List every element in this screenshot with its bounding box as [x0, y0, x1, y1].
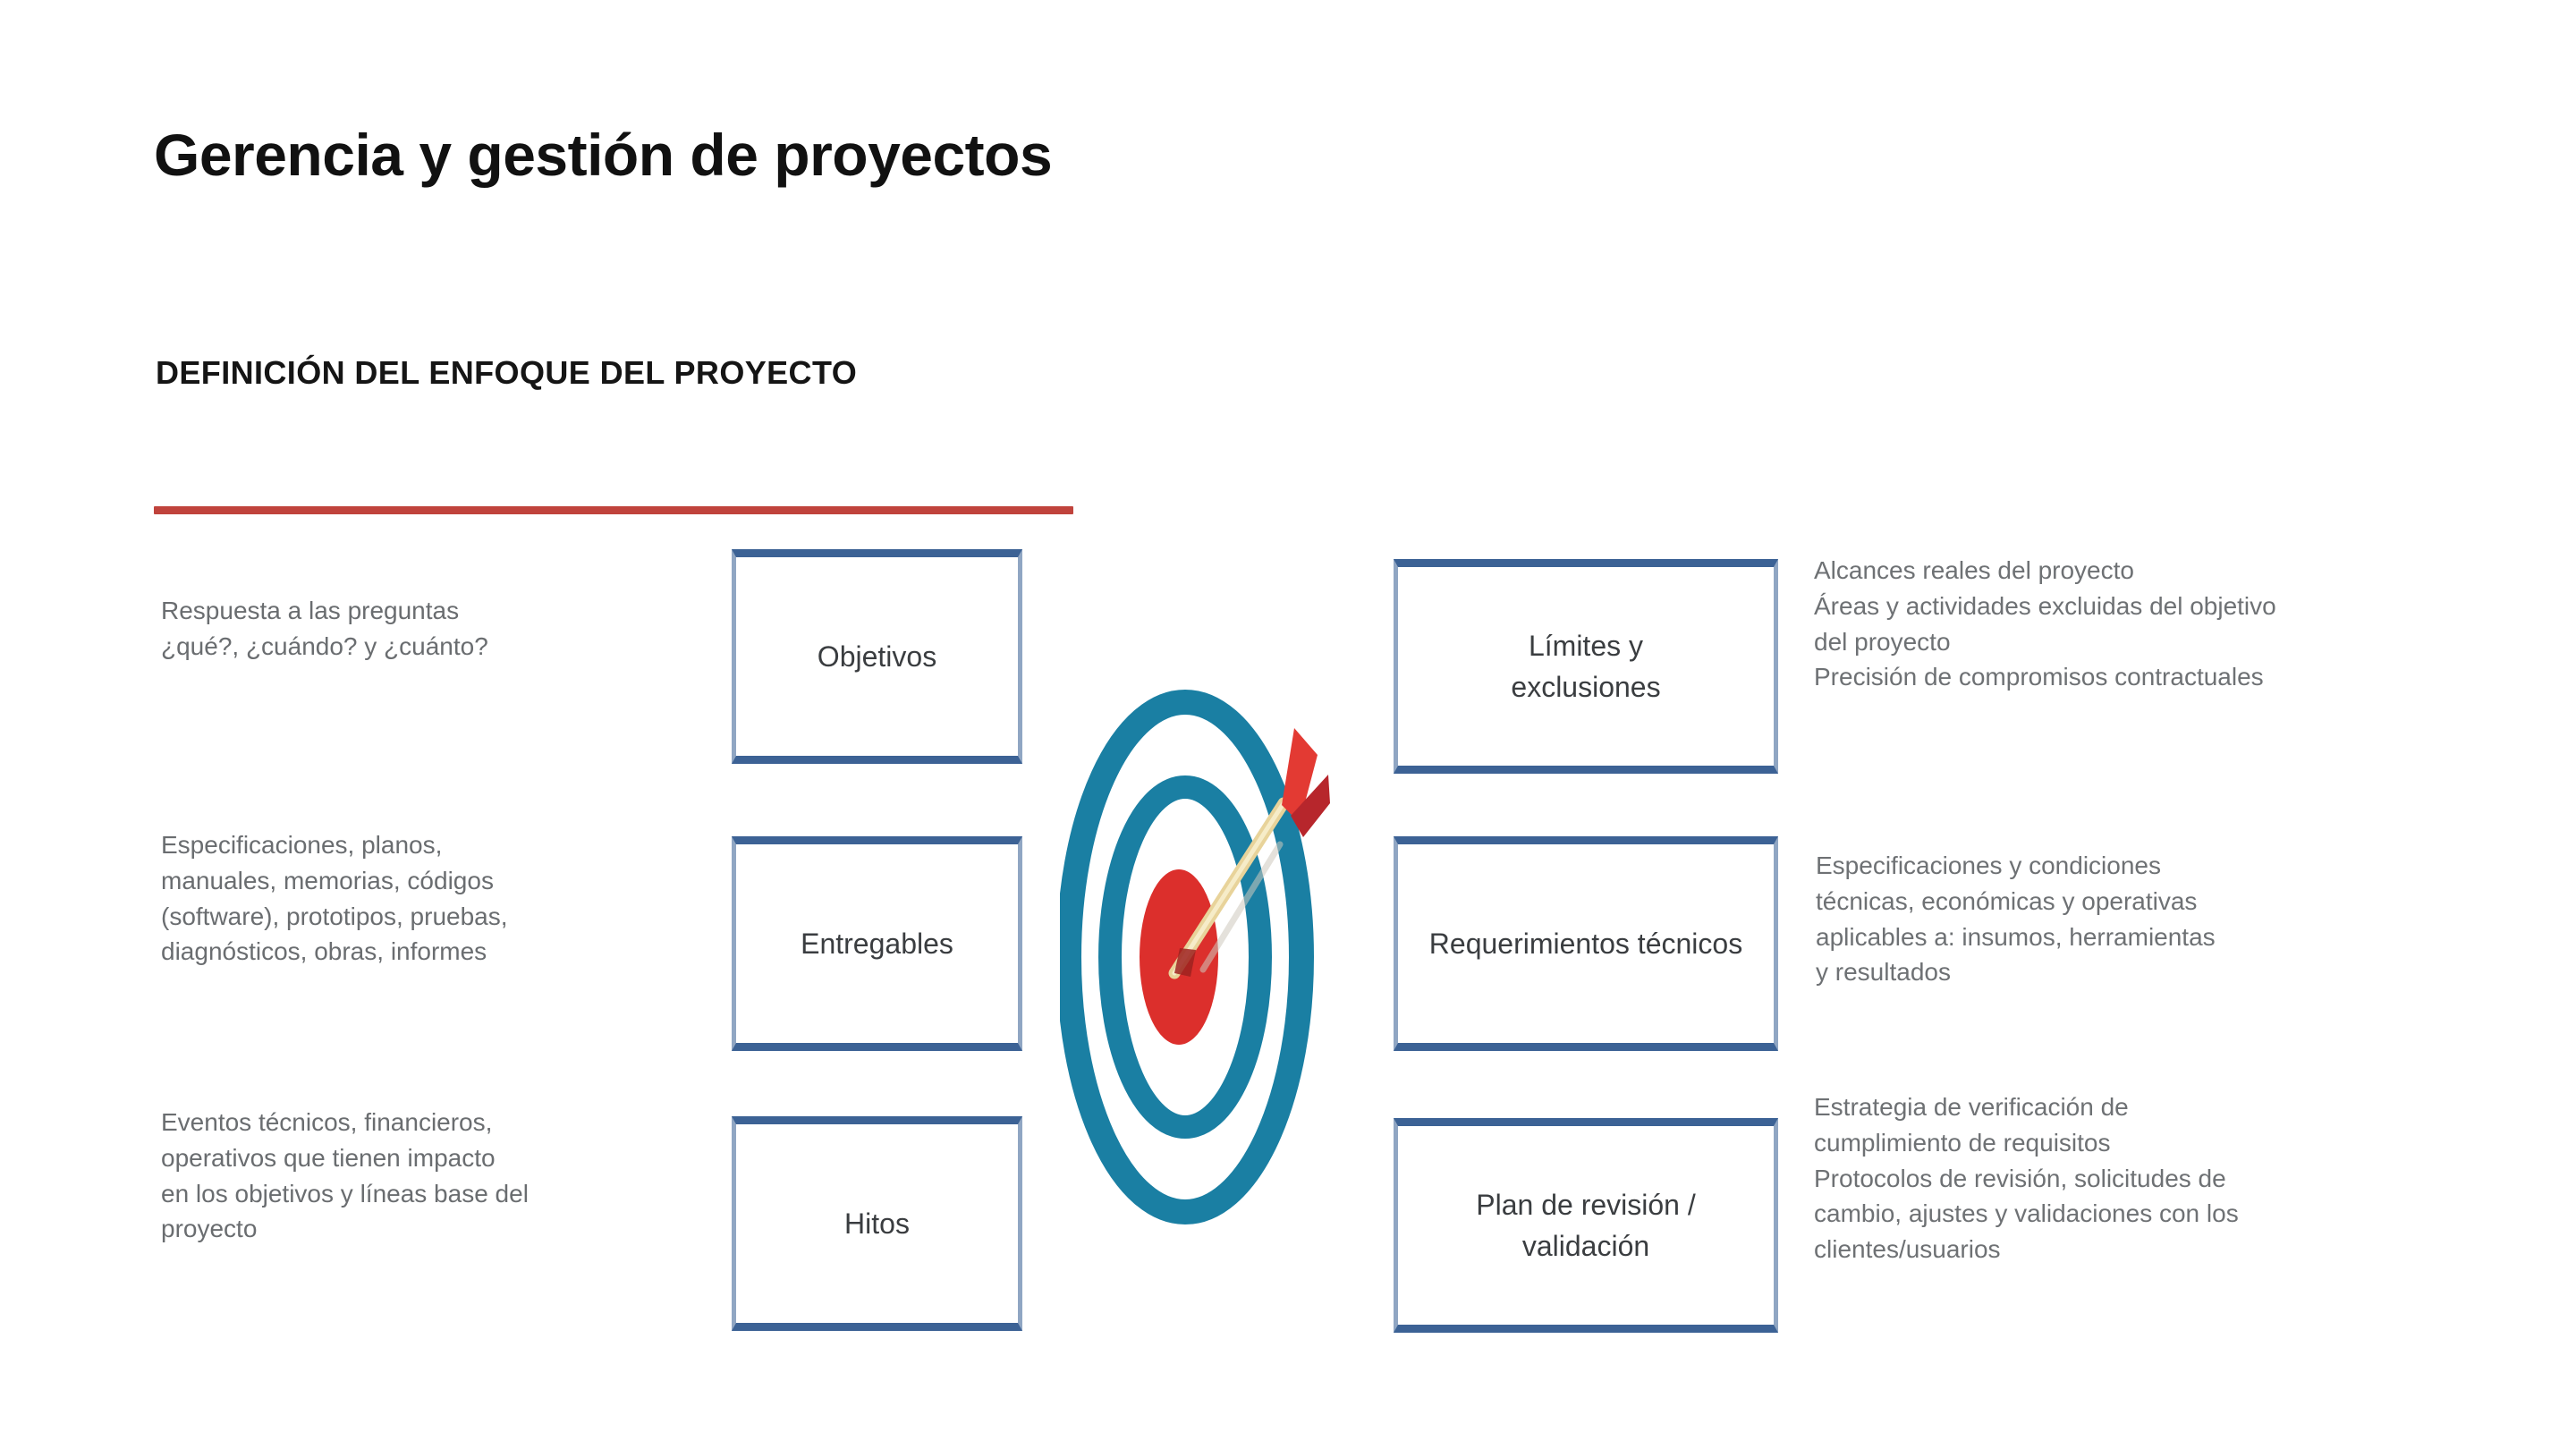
right-box-limites-exclusiones-label: Límites y exclusiones	[1498, 625, 1673, 708]
right-description-1: Alcances reales del proyecto Áreas y act…	[1814, 553, 2521, 695]
accent-divider	[154, 506, 1073, 514]
page-title: Gerencia y gestión de proyectos	[154, 121, 1052, 189]
right-box-plan-revision[interactable]: Plan de revisión / validación	[1394, 1118, 1778, 1333]
target-with-arrow-icon: Diana con flecha en el centro	[1060, 689, 1337, 1225]
right-description-2: Especificaciones y condiciones técnicas,…	[1816, 848, 2495, 990]
left-box-hitos-label: Hitos	[832, 1203, 922, 1244]
left-box-entregables[interactable]: Entregables	[732, 836, 1022, 1051]
left-box-objetivos[interactable]: Objetivos	[732, 549, 1022, 764]
section-subtitle: DEFINICIÓN DEL ENFOQUE DEL PROYECTO	[156, 354, 857, 392]
right-box-limites-exclusiones[interactable]: Límites y exclusiones	[1394, 559, 1778, 774]
slide-canvas: Gerencia y gestión de proyectos DEFINICI…	[0, 0, 2576, 1449]
left-description-2: Especificaciones, planos, manuales, memo…	[161, 827, 716, 970]
left-box-hitos[interactable]: Hitos	[732, 1116, 1022, 1331]
right-box-plan-revision-label: Plan de revisión / validación	[1398, 1184, 1774, 1267]
left-box-objetivos-label: Objetivos	[805, 636, 949, 677]
left-description-1: Respuesta a las preguntas ¿qué?, ¿cuándo…	[161, 593, 698, 665]
right-box-requerimientos-tecnicos-label: Requerimientos técnicos	[1417, 923, 1755, 964]
right-description-3: Estrategia de verificación de cumplimien…	[1814, 1089, 2521, 1267]
left-box-entregables-label: Entregables	[788, 923, 966, 964]
right-box-requerimientos-tecnicos[interactable]: Requerimientos técnicos	[1394, 836, 1778, 1051]
left-description-3: Eventos técnicos, financieros, operativo…	[161, 1105, 716, 1247]
